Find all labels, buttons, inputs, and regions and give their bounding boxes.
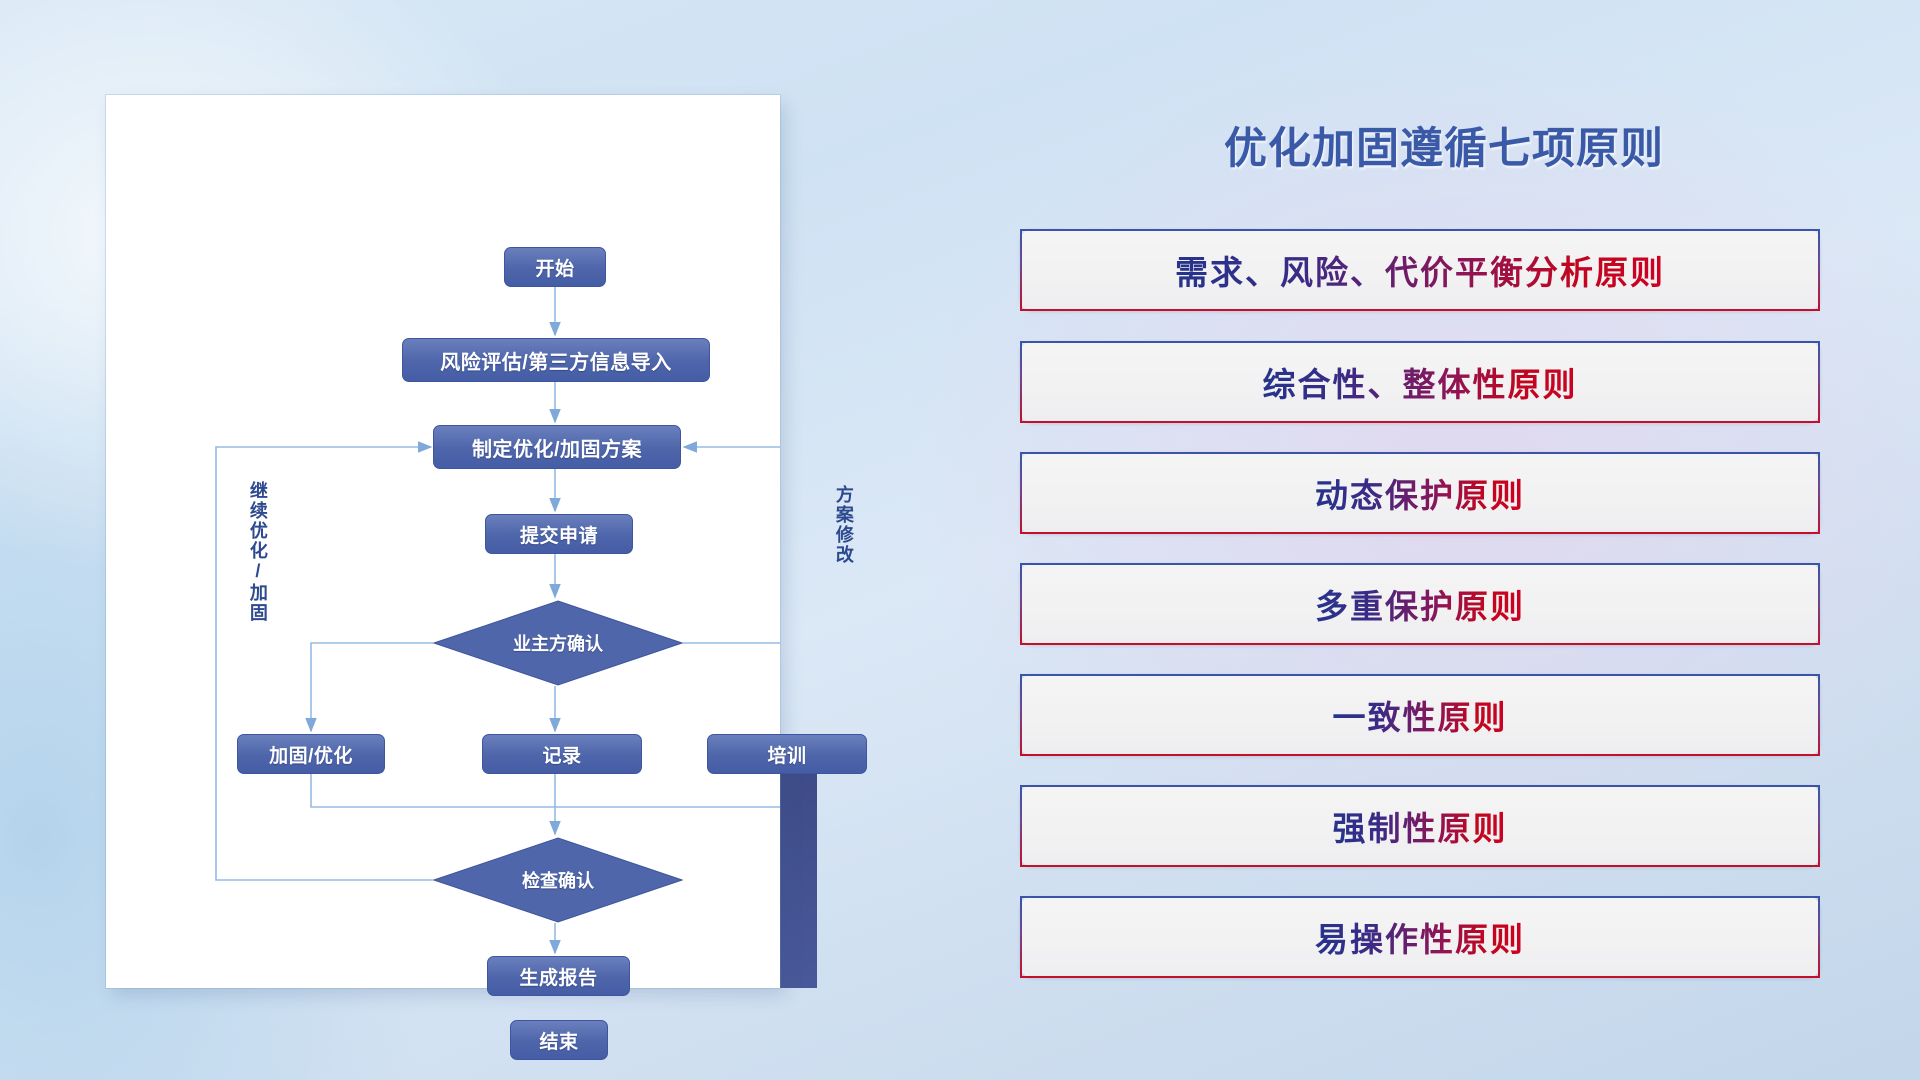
flow-node-risk-assessment[interactable]: 风险评估/第三方信息导入 (402, 338, 710, 382)
flow-node-training[interactable]: 培训 (707, 734, 867, 774)
flow-node-submit-application[interactable]: 提交申请 (485, 514, 633, 554)
flowchart-panel: 开始 风险评估/第三方信息导入 制定优化/加固方案 提交申请 业主方确认 加固/… (106, 95, 780, 988)
flow-node-label: 检查确认 (522, 867, 594, 893)
principle-card-label: 易操作性原则 (1315, 913, 1525, 961)
principle-card[interactable]: 强制性原则 (1020, 785, 1820, 867)
principle-card[interactable]: 综合性、整体性原则 (1020, 341, 1820, 423)
flow-node-label: 提交申请 (520, 521, 598, 548)
principle-card-label: 多重保护原则 (1315, 580, 1525, 628)
principle-card[interactable]: 动态保护原则 (1020, 452, 1820, 534)
flow-node-label: 开始 (535, 254, 574, 281)
principle-card[interactable]: 多重保护原则 (1020, 563, 1820, 645)
principle-card-label: 需求、风险、代价平衡分析原则 (1175, 246, 1665, 294)
flow-node-start[interactable]: 开始 (504, 247, 606, 287)
principle-card-label: 动态保护原则 (1315, 469, 1525, 517)
flow-edge-label-plan-revision: 方案修改 (834, 485, 853, 565)
flow-node-plan[interactable]: 制定优化/加固方案 (433, 425, 681, 469)
flow-node-label: 加固/优化 (269, 741, 353, 768)
principles-panel: 优化加固遵循七项原则 需求、风险、代价平衡分析原则 综合性、整体性原则 动态保护… (1020, 100, 1850, 1000)
flow-node-end[interactable]: 结束 (510, 1020, 608, 1060)
principle-card-label: 强制性原则 (1333, 802, 1508, 850)
flow-edge-label-continue-optimize: 继续优化/加固 (248, 481, 267, 623)
principle-card-label: 综合性、整体性原则 (1263, 358, 1578, 406)
flow-node-label: 记录 (542, 741, 581, 768)
flow-node-label: 生成报告 (519, 963, 597, 990)
flow-node-record[interactable]: 记录 (482, 734, 642, 774)
page-title: 优化加固遵循七项原则 (1154, 114, 1734, 176)
flow-node-inspection-confirmation[interactable]: 检查确认 (433, 837, 683, 923)
principle-card[interactable]: 一致性原则 (1020, 674, 1820, 756)
flow-node-generate-report[interactable]: 生成报告 (487, 956, 630, 996)
principle-card[interactable]: 需求、风险、代价平衡分析原则 (1020, 229, 1820, 311)
flow-node-owner-confirmation[interactable]: 业主方确认 (433, 600, 683, 686)
principle-card[interactable]: 易操作性原则 (1020, 896, 1820, 978)
flow-node-label: 结束 (539, 1027, 578, 1054)
principle-card-label: 一致性原则 (1333, 691, 1508, 739)
flow-node-reinforce-optimize[interactable]: 加固/优化 (237, 734, 385, 774)
flow-node-label: 培训 (767, 741, 806, 768)
flow-node-label: 制定优化/加固方案 (472, 433, 642, 462)
flow-node-label: 风险评估/第三方信息导入 (440, 346, 672, 375)
flow-node-label: 业主方确认 (513, 630, 603, 656)
